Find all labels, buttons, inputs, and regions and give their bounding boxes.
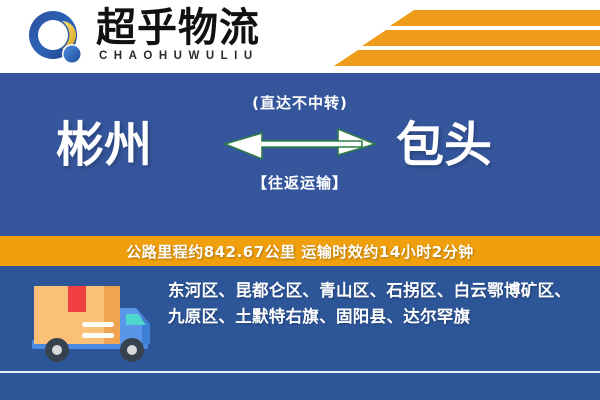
route-info-text: 公路里程约842.67公里 运输时效约14小时2分钟 bbox=[126, 241, 473, 262]
bottom-divider bbox=[0, 371, 600, 373]
circle-crescent-logo-icon bbox=[28, 10, 84, 66]
district-line-2: 九原区、土默特右旗、固阳县、达尔罕旗 bbox=[168, 304, 592, 330]
brand-name-cn: 超乎物流 bbox=[96, 6, 260, 50]
bidirectional-arrows-icon bbox=[220, 125, 380, 163]
logistics-route-banner: 超乎物流 CHAOHUWULIU 彬州 (直达不中转) 【往返运输】 包头 bbox=[0, 0, 600, 400]
header-stripe-1 bbox=[390, 10, 600, 26]
origin-city: 彬州 bbox=[56, 117, 152, 173]
district-list: 东河区、昆都仑区、青山区、石拐区、白云鄂博矿区、 九原区、土默特右旗、固阳县、达… bbox=[168, 278, 592, 330]
round-trip-note: 【往返运输】 bbox=[205, 173, 395, 193]
brand-name-en: CHAOHUWULIU bbox=[99, 50, 259, 62]
delivery-truck-icon bbox=[26, 278, 160, 370]
destination-city: 包头 bbox=[396, 117, 492, 173]
coverage-section: 东河区、昆都仑区、青山区、石拐区、白云鄂博矿区、 九原区、土默特右旗、固阳县、达… bbox=[0, 266, 600, 400]
header-stripe-3 bbox=[334, 50, 600, 66]
route-middle-block: (直达不中转) 【往返运输】 bbox=[205, 93, 395, 218]
header-stripe-2 bbox=[362, 30, 600, 46]
route-info-bar: 公路里程约842.67公里 运输时效约14小时2分钟 bbox=[0, 236, 600, 266]
header-stripes-decoration bbox=[330, 0, 600, 73]
direct-service-note: (直达不中转) bbox=[205, 93, 395, 113]
district-line-1: 东河区、昆都仑区、青山区、石拐区、白云鄂博矿区、 bbox=[168, 278, 592, 304]
route-band: 彬州 (直达不中转) 【往返运输】 包头 bbox=[0, 73, 600, 236]
banner-header: 超乎物流 CHAOHUWULIU bbox=[0, 0, 600, 73]
